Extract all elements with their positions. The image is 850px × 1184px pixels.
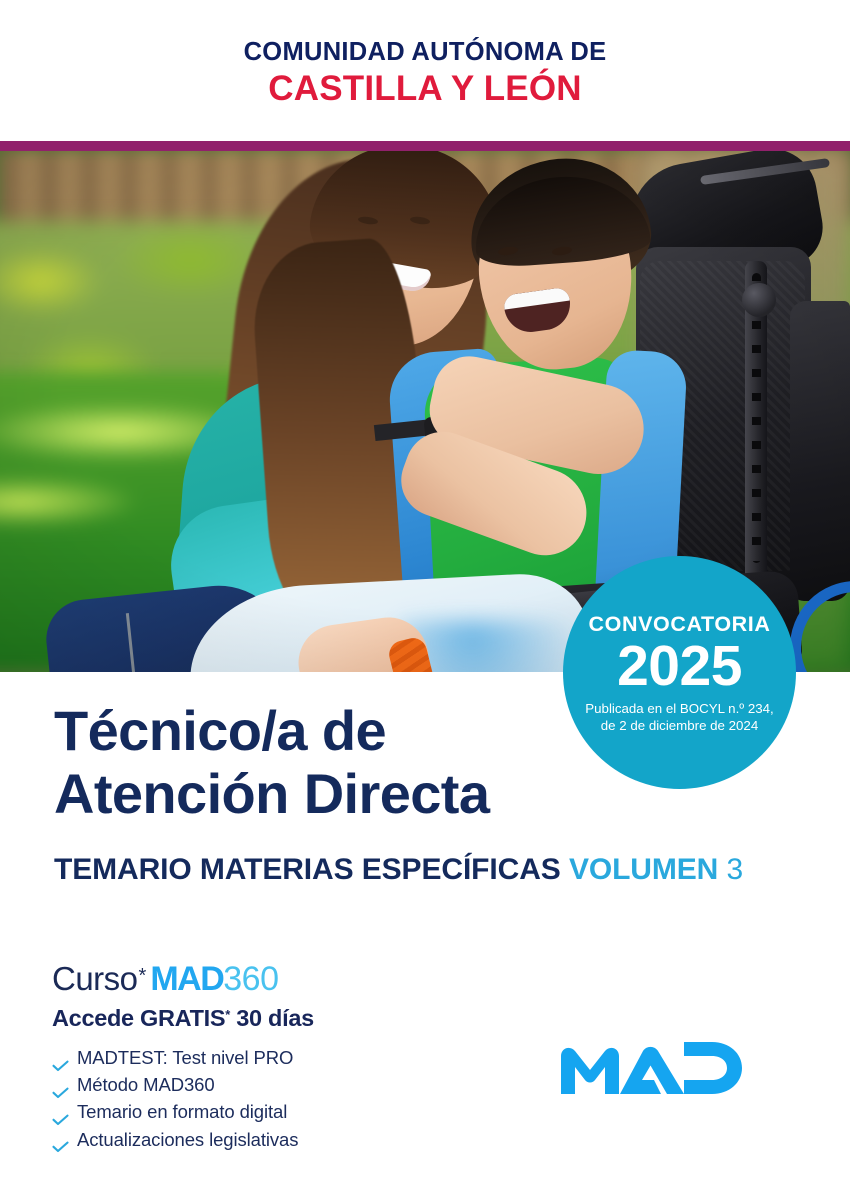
- subtitle-volumen-number: 3: [727, 853, 744, 886]
- promo-feature-list: MADTEST: Test nivel PRO Método MAD360 Te…: [52, 1044, 412, 1153]
- book-cover: COMUNIDAD AUTÓNOMA DE CASTILLA Y LEÓN: [0, 0, 850, 1184]
- accede-text: Accede GRATIS: [52, 1005, 225, 1031]
- check-icon: [52, 1106, 69, 1118]
- wheelchair-side-panel: [790, 301, 850, 601]
- header-region-line: CASTILLA Y LEÓN: [268, 69, 582, 109]
- convocatoria-badge: CONVOCATORIA 2025 Publicada en el BOCYL …: [563, 556, 796, 789]
- wheelchair-adjust-knob: [742, 283, 776, 317]
- list-item: Actualizaciones legislativas: [52, 1126, 412, 1153]
- accede-gratis-line: Accede GRATIS* 30 días: [52, 1005, 412, 1032]
- mad-logo: [557, 1037, 769, 1099]
- convocatoria-note-line1: Publicada en el BOCYL n.º 234,: [585, 700, 773, 718]
- subtitle-volumen-label: VOLUMEN: [569, 853, 718, 886]
- accede-days: 30 días: [236, 1005, 314, 1031]
- header-community-line: COMUNIDAD AUTÓNOMA DE: [244, 38, 607, 68]
- check-icon: [52, 1052, 69, 1064]
- curso-word: Curso: [52, 962, 138, 995]
- feature-label: Actualizaciones legislativas: [77, 1126, 298, 1153]
- cover-header: COMUNIDAD AUTÓNOMA DE CASTILLA Y LEÓN: [0, 0, 850, 141]
- magenta-stripe: [0, 141, 850, 151]
- list-item: Método MAD360: [52, 1071, 412, 1098]
- mad360-brand-mad: MAD: [150, 962, 223, 996]
- check-icon: [52, 1133, 69, 1145]
- promo-block: Curso*MAD360 Accede GRATIS* 30 días MADT…: [52, 962, 412, 1169]
- list-item: Temario en formato digital: [52, 1098, 412, 1125]
- curso-mad360-lockup: Curso*MAD360: [52, 962, 412, 996]
- accede-asterisk: *: [225, 1007, 230, 1022]
- curso-asterisk: *: [139, 966, 147, 986]
- subtitle-prefix: TEMARIO MATERIAS ESPECÍFICAS: [54, 853, 561, 886]
- page-subtitle: TEMARIO MATERIAS ESPECÍFICAS VOLUMEN 3: [54, 853, 754, 886]
- convocatoria-note: Publicada en el BOCYL n.º 234, de 2 de d…: [585, 700, 773, 735]
- mad360-brand-360: 360: [223, 962, 278, 996]
- convocatoria-note-line2: de 2 de diciembre de 2024: [585, 717, 773, 735]
- convocatoria-year: 2025: [617, 637, 742, 695]
- feature-label: MADTEST: Test nivel PRO: [77, 1044, 293, 1071]
- feature-label: Método MAD360: [77, 1071, 215, 1098]
- convocatoria-label: CONVOCATORIA: [589, 614, 771, 636]
- check-icon: [52, 1079, 69, 1091]
- feature-label: Temario en formato digital: [77, 1098, 287, 1125]
- list-item: MADTEST: Test nivel PRO: [52, 1044, 412, 1071]
